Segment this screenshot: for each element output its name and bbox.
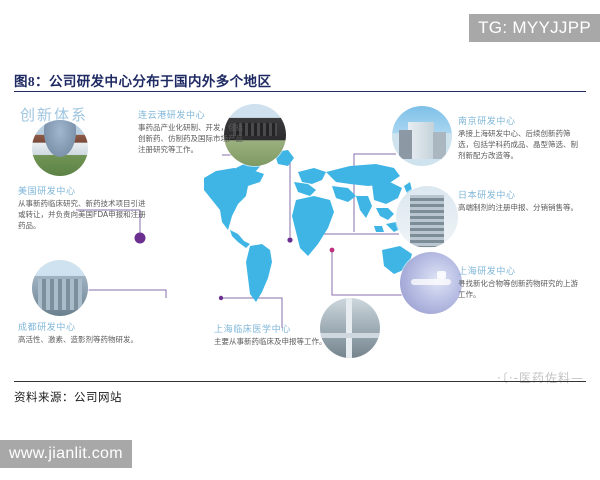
node-lianyungang-title: 连云港研发中心 (138, 108, 250, 121)
site-watermark-text: www.jianlit.com (9, 445, 123, 463)
node-shanghai-rd-desc: 寻找新化合物等创新药物研究的上游工作。 (458, 279, 582, 301)
brand-watermark: ·〔·-医药佐料— (497, 369, 584, 386)
node-shanghai-rd: 上海研发中心 寻找新化合物等创新药物研究的上游工作。 (458, 264, 582, 301)
figure-title: 图8：公司研发中心分布于国内外多个地区 (14, 70, 271, 90)
node-japan-title: 日本研发中心 (458, 188, 582, 201)
nanjing-building-photo (392, 106, 452, 166)
node-shanghai-clinical: 上海临床医学中心 主要从事新药临床及申报等工作。 (214, 322, 328, 348)
node-usa-title: 美国研发中心 (18, 184, 146, 197)
usa-building-photo (32, 120, 88, 176)
node-nanjing-title: 南京研发中心 (458, 114, 582, 127)
node-usa-desc: 从事新药临床研究、新药技术项目引进或转让，并负责向美国FDA申报和注册药品。 (18, 199, 146, 232)
japan-building-photo (396, 186, 458, 248)
node-shanghai-clinical-desc: 主要从事新药临床及申报等工作。 (214, 337, 328, 348)
node-japan-desc: 高端制剂的注册申报、分销销售等。 (458, 203, 582, 214)
telegram-watermark-text: TG: MYYJJPP (478, 18, 591, 38)
node-chengdu-desc: 高活性、激素、造影剂等药物研发。 (18, 335, 138, 346)
chengdu-building-photo (32, 260, 88, 316)
shanghai-clinical-photo (320, 298, 380, 358)
node-lianyungang: 连云港研发中心 事药品产业化研制、开发，包括创新药、仿制药及国际市场产品注册研究… (138, 108, 250, 156)
telegram-watermark: TG: MYYJJPP (469, 14, 600, 42)
source-note: 资料来源：公司网站 (14, 389, 122, 405)
marker-usa (135, 233, 146, 244)
figure-body: 创新体系 (14, 92, 586, 380)
node-shanghai-clinical-title: 上海临床医学中心 (214, 322, 328, 335)
site-watermark: www.jianlit.com (0, 440, 132, 468)
node-nanjing-desc: 承接上海研发中心、后续创新药筛选，包括学科药成品、晶型筛选、制剂新配方改造等。 (458, 129, 582, 162)
node-shanghai-rd-title: 上海研发中心 (458, 264, 582, 277)
node-nanjing: 南京研发中心 承接上海研发中心、后续创新药筛选，包括学科药成品、晶型筛选、制剂新… (458, 114, 582, 162)
node-japan: 日本研发中心 高端制剂的注册申报、分销销售等。 (458, 188, 582, 214)
shanghai-lab-photo (400, 252, 462, 314)
node-usa: 美国研发中心 从事新药临床研究、新药技术项目引进或转让，并负责向美国FDA申报和… (18, 184, 146, 232)
node-chengdu-title: 成都研发中心 (18, 320, 138, 333)
footer-divider (14, 381, 586, 382)
node-lianyungang-desc: 事药品产业化研制、开发，包括创新药、仿制药及国际市场产品注册研究等工作。 (138, 123, 250, 156)
node-chengdu: 成都研发中心 高活性、激素、造影剂等药物研发。 (18, 320, 138, 346)
